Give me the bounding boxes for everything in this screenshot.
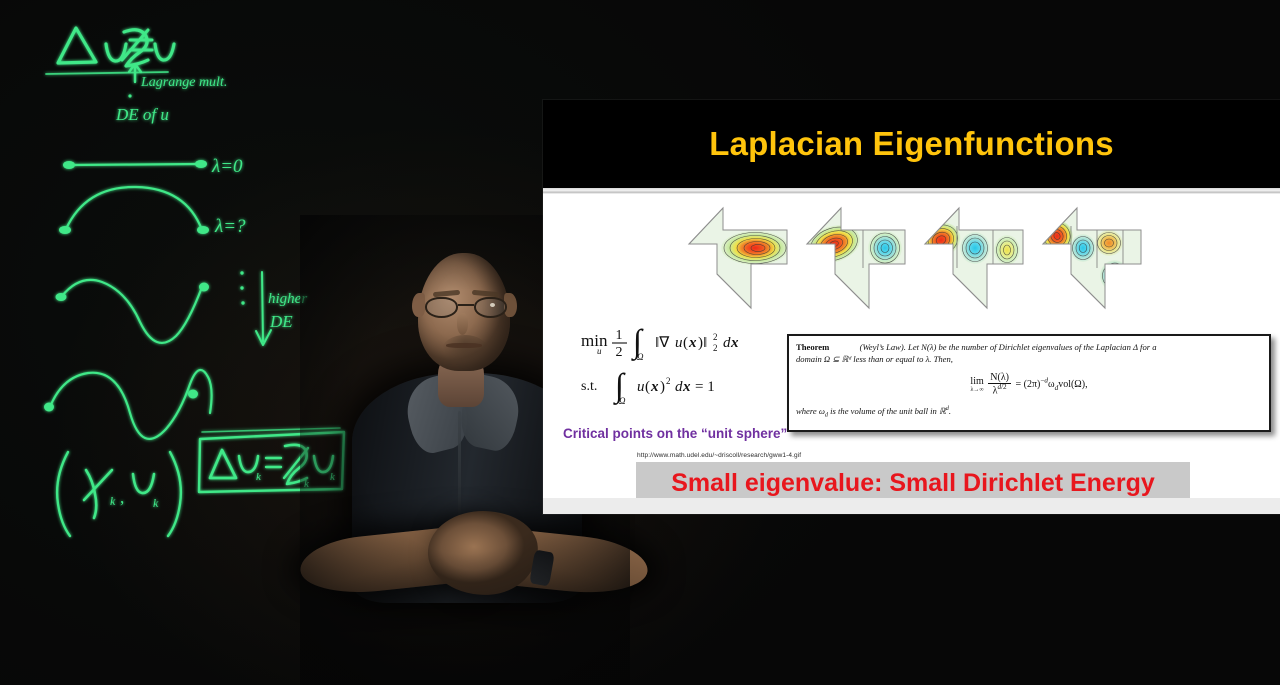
handwriting-de2-text: DE: [269, 312, 293, 331]
theorem-box: Theorem (Weyl’s Law). Let N(λ) be the nu…: [787, 334, 1271, 432]
slide-bottom-strip: [543, 498, 1280, 514]
handwriting-de-annotation: DE of u: [115, 94, 169, 124]
svg-text:2: 2: [713, 332, 718, 342]
handwriting-boxed-sub-k1: k: [256, 471, 262, 483]
glasses-bridge: [458, 304, 474, 306]
svg-text:)‖: )‖: [698, 335, 707, 351]
handwriting-higher-de-annotation: higher DE: [240, 271, 307, 345]
presenter-chin: [442, 335, 488, 365]
eigenfunction-panel-4: [1037, 198, 1149, 318]
slide-body: min u 1 2 ∫ Ω ‖∇ u ( x )‖ 2 2 d: [543, 194, 1280, 514]
handwriting-lagrange-text: Lagrange mult.: [140, 75, 227, 90]
eigenfunction-panel-1: [683, 198, 795, 318]
handwriting-eigen-curve-4: [44, 370, 212, 439]
handwriting-eigen-curve-2: λ=?: [59, 187, 246, 237]
eigenfunction-panel-2: [801, 198, 913, 318]
theorem-equation: lim λ→∞ N(λ) λd/2 = (2π)−dωdvol(Ω),: [796, 373, 1262, 397]
theorem-limit: lim λ→∞: [970, 377, 983, 393]
handwriting-curve-label-1: λ=0: [211, 156, 243, 177]
handwriting-heading-equation: [46, 28, 174, 74]
glasses-lens-left: [425, 297, 458, 318]
svg-text:d: d: [675, 379, 683, 395]
banner-text: Small eigenvalue: Small Dirichlet Energy: [671, 469, 1155, 498]
lecture-stage: Lagrange mult. DE of u λ=0: [0, 0, 1280, 685]
theorem-text-1: Let N(λ) be the number of Dirichlet eige…: [908, 342, 1156, 352]
handwriting-comma: ,: [120, 488, 124, 507]
handwriting-lagrange-annotation: Lagrange mult.: [129, 64, 227, 90]
optimization-formula-block: min u 1 2 ∫ Ω ‖∇ u ( x )‖ 2 2 d: [559, 320, 779, 425]
svg-text:‖∇: ‖∇: [655, 335, 670, 351]
glasses-lens-right: [474, 297, 507, 318]
figure-source-url: http://www.math.udel.edu/~driscoll/resea…: [637, 452, 801, 459]
svg-text:x: x: [688, 335, 697, 351]
svg-text:2: 2: [713, 343, 718, 353]
svg-text:min: min: [581, 331, 608, 350]
eigenfunction-panel-3: [919, 198, 1031, 318]
handwriting-de-text: DE of u: [115, 105, 169, 124]
presentation-slide[interactable]: Laplacian Eigenfunctions: [543, 100, 1280, 514]
eigenfunction-figure-row: [683, 198, 1153, 318]
svg-text:u: u: [597, 346, 602, 356]
slide-header-bar: Laplacian Eigenfunctions: [543, 100, 1280, 188]
svg-text:u: u: [675, 335, 683, 351]
svg-text:2: 2: [616, 345, 623, 360]
svg-text:(: (: [683, 335, 688, 351]
theorem-fraction: N(λ) λd/2: [988, 373, 1011, 397]
theorem-text-2: domain Ω ⊆ ℝᵈ less than or equal to λ. T…: [796, 353, 1262, 365]
handwriting-eigen-curve-3: [56, 280, 210, 343]
optimization-formula-svg: min u 1 2 ∫ Ω ‖∇ u ( x )‖ 2 2 d: [559, 320, 779, 420]
svg-text:1: 1: [616, 328, 623, 343]
svg-text:): ): [660, 379, 665, 395]
handwriting-eigen-pair: k , k: [57, 452, 181, 536]
glasses-glint: [490, 303, 495, 307]
svg-text:Ω: Ω: [637, 352, 644, 362]
svg-text:(: (: [645, 379, 650, 395]
theorem-name: (Weyl’s Law).: [860, 342, 906, 352]
presenter-nose: [457, 313, 468, 335]
handwriting-eigen-curve-1: λ=0: [63, 156, 243, 177]
handwriting-subscript-k2: k: [153, 496, 159, 510]
theorem-denominator: λd/2: [988, 384, 1011, 397]
svg-text:2: 2: [666, 376, 671, 386]
critical-points-note: Critical points on the “unit sphere”: [563, 426, 787, 441]
theorem-label: Theorem: [796, 342, 829, 352]
svg-text:= 1: = 1: [695, 379, 715, 395]
presenter-mouth: [446, 343, 482, 348]
theorem-rhs: = (2π)−dωdvol(Ω),: [1016, 379, 1088, 390]
svg-text:x: x: [650, 379, 659, 395]
handwriting-subscript-k1: k: [110, 494, 116, 508]
svg-text:u: u: [637, 379, 645, 395]
handwriting-curve-label-2: λ=?: [214, 216, 246, 237]
theorem-line-1: Theorem (Weyl’s Law). Let N(λ) be the nu…: [796, 341, 1262, 353]
svg-text:x: x: [730, 335, 739, 351]
svg-text:Ω: Ω: [619, 396, 626, 406]
slide-title: Laplacian Eigenfunctions: [709, 125, 1114, 163]
svg-text:d: d: [723, 335, 731, 351]
svg-text:s.t.: s.t.: [581, 379, 597, 394]
theorem-closing: where ωd is the volume of the unit ball …: [796, 405, 1262, 421]
svg-text:x: x: [682, 379, 691, 395]
